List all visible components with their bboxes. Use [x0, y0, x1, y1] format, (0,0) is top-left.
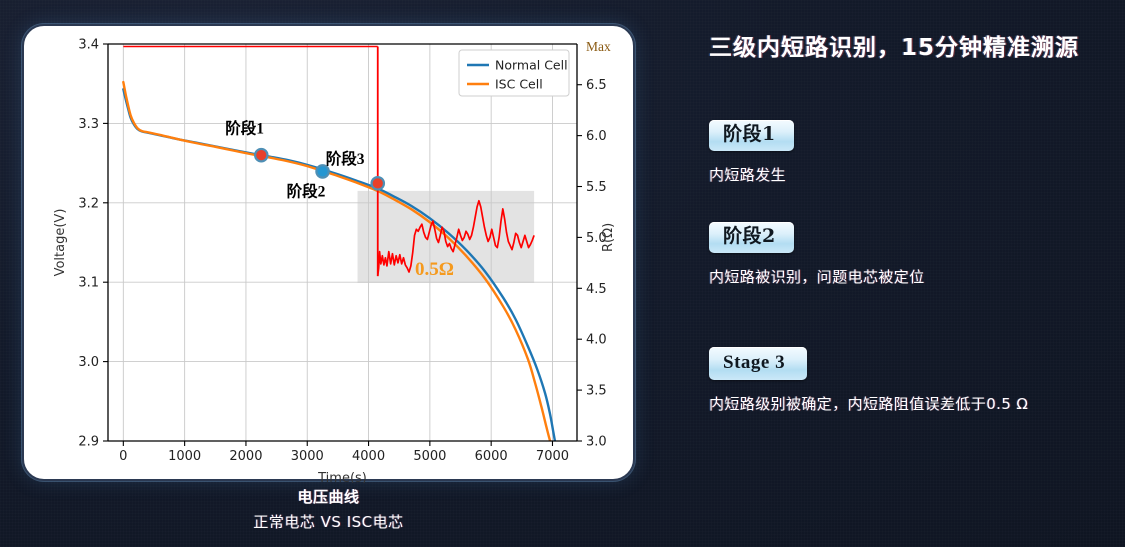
chart-plot-area: 阶段1阶段2阶段30.5Ω2.93.03.13.23.33.43.03.54.0…: [24, 26, 633, 479]
stage-badge-1: 阶段1: [709, 120, 794, 151]
svg-text:0: 0: [119, 449, 127, 464]
svg-text:3.5: 3.5: [586, 384, 607, 399]
stage-badge-2: 阶段2: [709, 222, 794, 253]
stage-desc-2: 内短路被识别，问题电芯被定位: [709, 266, 925, 287]
svg-text:3000: 3000: [291, 449, 324, 464]
svg-text:Max: Max: [586, 39, 611, 54]
svg-text:R(Ω): R(Ω): [601, 223, 616, 252]
chart-card: 阶段1阶段2阶段30.5Ω2.93.03.13.23.33.43.03.54.0…: [22, 24, 635, 481]
chart-caption: 电压曲线 正常电芯 VS ISC电芯: [22, 486, 635, 532]
caption-title: 电压曲线: [22, 486, 635, 507]
svg-text:3.0: 3.0: [586, 435, 607, 450]
svg-text:6000: 6000: [475, 449, 508, 464]
svg-text:ISC Cell: ISC Cell: [495, 77, 543, 92]
svg-text:Time(s): Time(s): [317, 471, 367, 483]
stage-block-2: 阶段2 内短路被识别，问题电芯被定位: [709, 222, 925, 287]
stage-desc-3: 内短路级别被确定，内短路阻值误差低于0.5 Ω: [709, 393, 1028, 414]
stage-badge-3: Stage 3: [709, 347, 807, 380]
svg-text:3.4: 3.4: [78, 38, 99, 53]
stage-block-1: 阶段1 内短路发生: [709, 120, 794, 185]
caption-subtitle: 正常电芯 VS ISC电芯: [22, 511, 635, 532]
svg-text:6.0: 6.0: [586, 129, 607, 144]
svg-text:5.5: 5.5: [586, 180, 607, 195]
svg-text:阶段2: 阶段2: [287, 181, 326, 200]
svg-text:0.5Ω: 0.5Ω: [415, 259, 454, 280]
svg-text:阶段1: 阶段1: [225, 119, 264, 138]
svg-text:Normal Cell: Normal Cell: [495, 58, 568, 73]
svg-text:7000: 7000: [536, 449, 569, 464]
svg-text:3.0: 3.0: [78, 355, 99, 370]
svg-text:3.2: 3.2: [78, 196, 99, 211]
svg-text:4000: 4000: [352, 449, 385, 464]
svg-text:4.5: 4.5: [586, 282, 607, 297]
svg-text:阶段3: 阶段3: [326, 149, 365, 168]
svg-text:2.9: 2.9: [78, 435, 99, 450]
svg-text:5000: 5000: [413, 449, 446, 464]
svg-text:2000: 2000: [229, 449, 262, 464]
svg-text:Voltage(V): Voltage(V): [53, 209, 68, 277]
stage-block-3: Stage 3 内短路级别被确定，内短路阻值误差低于0.5 Ω: [709, 347, 1028, 414]
svg-text:6.5: 6.5: [586, 78, 607, 93]
svg-text:1000: 1000: [168, 449, 201, 464]
svg-text:4.0: 4.0: [586, 333, 607, 348]
page-title: 三级内短路识别，15分钟精准溯源: [709, 28, 1079, 62]
svg-text:3.3: 3.3: [78, 117, 99, 132]
info-panel: 三级内短路识别，15分钟精准溯源 阶段1 内短路发生 阶段2 内短路被识别，问题…: [660, 0, 1125, 547]
voltage-chart-svg: 阶段1阶段2阶段30.5Ω2.93.03.13.23.33.43.03.54.0…: [24, 26, 637, 483]
stage-desc-1: 内短路发生: [709, 164, 794, 185]
svg-text:3.1: 3.1: [78, 276, 99, 291]
